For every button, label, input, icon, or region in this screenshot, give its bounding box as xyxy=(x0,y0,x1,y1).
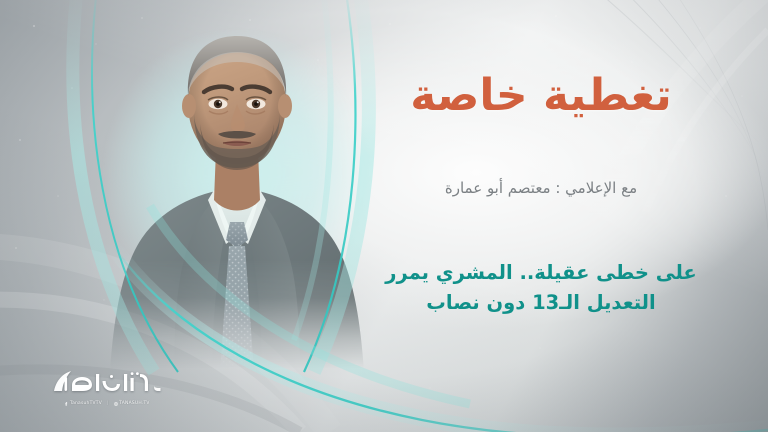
program-title: تغطية خاصة xyxy=(376,72,706,120)
globe-icon xyxy=(114,402,118,406)
handle-separator: | xyxy=(107,401,109,406)
headline-line-2: التعديل الـ13 دون نصاب xyxy=(426,291,655,314)
facebook-handle: TanasuhTVTV xyxy=(64,401,102,406)
tanasuh-logo-icon xyxy=(48,368,166,398)
channel-logo: TanasuhTVTV | TANASUH.TV xyxy=(48,368,166,406)
text-block: تغطية خاصة مع الإعلامي : معتصم أبو عمارة… xyxy=(376,0,706,432)
website-handle-text: TANASUH.TV xyxy=(119,401,149,406)
website-handle: TANASUH.TV xyxy=(114,401,150,406)
logo-social-handles: TanasuhTVTV | TANASUH.TV xyxy=(48,401,166,406)
news-headline: على خطى عقيلة.. المشري يمرر التعديل الـ1… xyxy=(376,258,706,317)
broadcast-graphic: تغطية خاصة مع الإعلامي : معتصم أبو عمارة… xyxy=(0,0,768,432)
facebook-icon xyxy=(64,402,68,406)
presenter-line: مع الإعلامي : معتصم أبو عمارة xyxy=(376,178,706,199)
headline-line-1: على خطى عقيلة.. المشري يمرر xyxy=(385,261,697,284)
facebook-handle-text: TanasuhTVTV xyxy=(70,401,102,406)
